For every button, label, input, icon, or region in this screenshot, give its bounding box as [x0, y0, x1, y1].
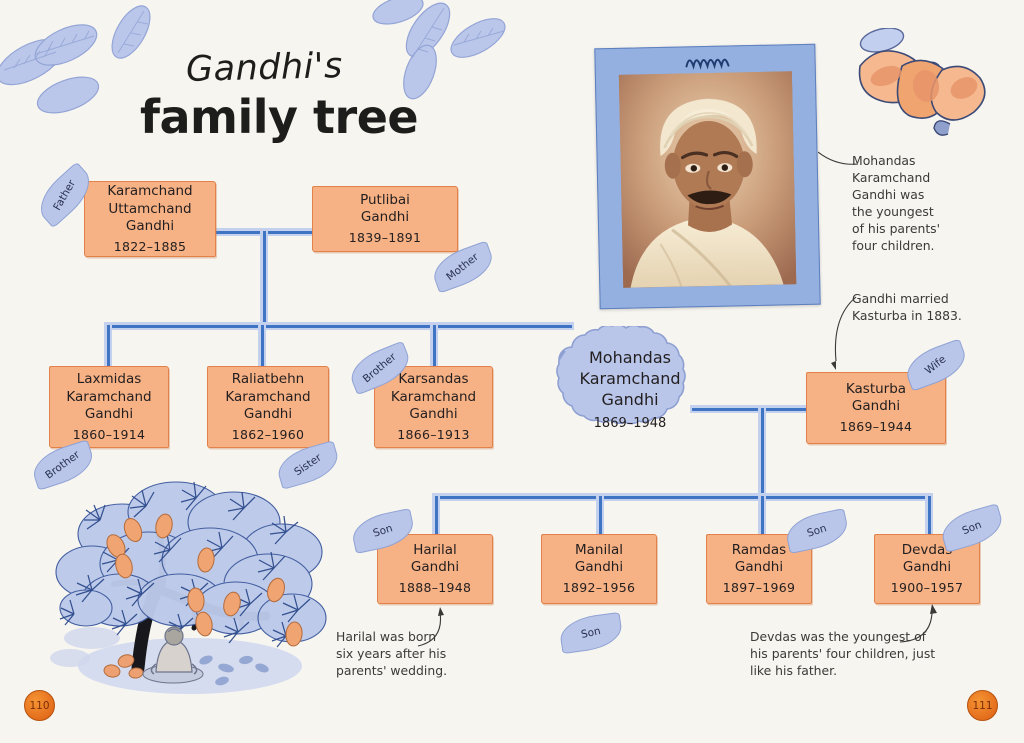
badge-sibling-raliatbehn-label: Sister: [292, 452, 324, 479]
badge-mother-label: Mother: [445, 251, 482, 283]
connector-siblings-bar: [106, 325, 572, 328]
page-number-left-label: 110: [29, 700, 49, 712]
connector-sibling1-drop: [107, 325, 110, 368]
node-sibling-raliatbehn-name: Raliatbehn Karamchand Gandhi: [225, 371, 310, 424]
node-child-manilal[interactable]: Manilal Gandhi 1892–1956: [541, 534, 657, 604]
badge-child-ramdas-label: Son: [806, 522, 828, 540]
badge-father-label: Father: [52, 178, 79, 213]
node-child-devdas-years: 1900–1957: [891, 579, 964, 597]
page-title-script: Gandhi's: [186, 46, 344, 90]
annotation-harilal: Harilal was born six years after his par…: [336, 628, 546, 679]
badge-child-manilal: Son: [558, 612, 624, 654]
badge-sibling-laxmidas-label: Brother: [44, 449, 83, 482]
mango-tree-illustration: [30, 468, 330, 700]
connector-child1-drop: [435, 496, 438, 535]
connector-child2-drop: [599, 496, 602, 535]
mangoes-decoration: [842, 28, 1024, 148]
node-sibling-raliatbehn-years: 1862–1960: [232, 426, 305, 444]
badge-child-harilal-label: Son: [372, 522, 394, 540]
node-father-years: 1822–1885: [114, 238, 187, 256]
node-mother-name: Putlibai Gandhi: [360, 192, 410, 227]
connector-child3-drop: [761, 496, 764, 535]
node-mohandas-years: 1869–1948: [594, 413, 667, 434]
node-father[interactable]: Karamchand Uttamchand Gandhi 1822–1885: [84, 181, 216, 257]
node-mohandas-name: Mohandas Karamchand Gandhi: [579, 347, 680, 410]
node-mother[interactable]: Putlibai Gandhi 1839–1891: [312, 186, 458, 252]
gandhi-portrait-frame: [594, 44, 820, 310]
page-number-right-label: 111: [972, 700, 992, 712]
node-wife-years: 1869–1944: [840, 418, 913, 436]
node-sibling-karsandas-years: 1866–1913: [397, 426, 470, 444]
connector-children-drop: [761, 408, 764, 500]
node-sibling-karsandas-name: Karsandas Karamchand Gandhi: [391, 371, 476, 424]
spread-page: Gandhi's family tree: [0, 0, 1024, 743]
badge-child-manilal-label: Son: [580, 625, 602, 641]
connector-parents-drop: [263, 231, 266, 327]
node-child-harilal-years: 1888–1948: [399, 579, 472, 597]
badge-child-ramdas: Son: [783, 508, 851, 554]
node-child-ramdas-name: Ramdas Gandhi: [732, 542, 786, 577]
page-title-bold: family tree: [140, 90, 418, 144]
node-child-harilal[interactable]: Harilal Gandhi 1888–1948: [377, 534, 493, 604]
badge-child-devdas: Son: [938, 503, 1007, 553]
node-child-harilal-name: Harilal Gandhi: [411, 542, 459, 577]
connector-child4-drop: [928, 496, 931, 535]
badge-wife-label: Wife: [923, 353, 949, 377]
connector-sibling2-drop: [261, 325, 264, 368]
node-sibling-laxmidas[interactable]: Laxmidas Karamchand Gandhi 1860–1914: [49, 366, 169, 448]
connector-children-bar: [434, 496, 930, 499]
frame-squiggle-icon: [682, 51, 740, 70]
annotation-marriage: Gandhi married Kasturba in 1883.: [852, 290, 1022, 324]
node-child-ramdas-years: 1897–1969: [723, 579, 796, 597]
gandhi-portrait-photo: [619, 71, 796, 288]
node-father-name: Karamchand Uttamchand Gandhi: [107, 183, 192, 236]
node-wife-name: Kasturba Gandhi: [846, 381, 906, 416]
node-mother-years: 1839–1891: [349, 229, 422, 247]
connector-sibling3-drop: [433, 325, 436, 368]
node-child-manilal-name: Manilal Gandhi: [575, 542, 623, 577]
node-sibling-laxmidas-name: Laxmidas Karamchand Gandhi: [66, 371, 151, 424]
node-mohandas[interactable]: Mohandas Karamchand Gandhi 1869–1948: [539, 326, 721, 454]
node-child-manilal-years: 1892–1956: [563, 579, 636, 597]
page-number-left: 110: [24, 690, 55, 721]
annotation-portrait: Mohandas Karamchand Gandhi was the young…: [852, 152, 1012, 254]
page-number-right: 111: [967, 690, 998, 721]
badge-child-devdas-label: Son: [961, 519, 984, 538]
node-sibling-raliatbehn[interactable]: Raliatbehn Karamchand Gandhi 1862–1960: [207, 366, 329, 448]
annotation-devdas: Devdas was the youngest of his parents' …: [750, 628, 1000, 679]
